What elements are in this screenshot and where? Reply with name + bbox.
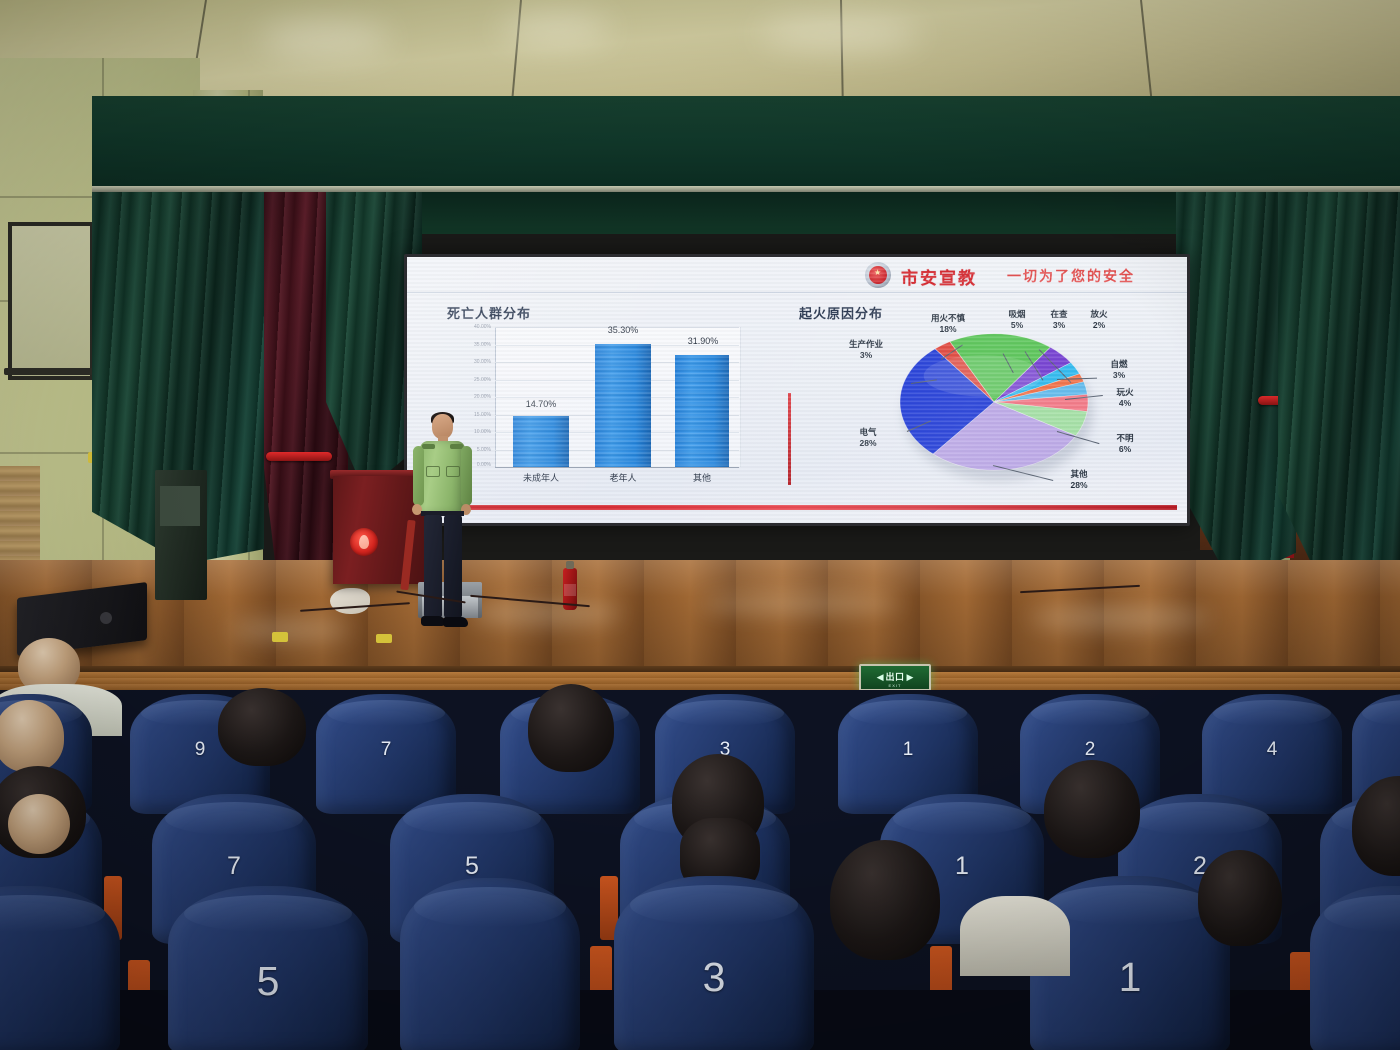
audience-head-back-1 (218, 688, 306, 766)
seat-number: 4 (1202, 739, 1342, 761)
pie-label-zaicha: 在查 3% (1039, 309, 1079, 330)
slide-bottom-rule (417, 505, 1177, 510)
bar-chart-baseline (495, 467, 739, 468)
led-screen: ★ 市安宣教 一切为了您的安全 死亡人群分布 40.00% 35.00% 30.… (407, 257, 1187, 523)
podium-emblem-icon (350, 528, 378, 556)
bar-other (675, 355, 729, 467)
pie-label-shengchanzuoye: 生产作业 3% (831, 339, 901, 360)
projection-screen (8, 222, 94, 380)
speaker-shoe-left (421, 616, 445, 626)
bar-category-minors: 未成年人 (505, 471, 577, 484)
pie-label-buming: 不明 6% (1105, 433, 1145, 454)
exit-arrow-left-icon: ◀ (877, 673, 884, 682)
pie-value-text: 5% (1011, 320, 1023, 330)
seat-front-5[interactable]: 5 (168, 886, 368, 1050)
audience-head-back-3 (0, 700, 64, 772)
pie-label-ziran: 自燃 3% (1099, 359, 1139, 380)
bar-ytick-25: 25.00% (447, 377, 491, 383)
pie-value-text: 2% (1093, 320, 1105, 330)
bar-chart: 40.00% 35.00% 30.00% 25.00% 20.00% 15.00… (447, 319, 747, 487)
exit-sign: ◀ 出口 ▶ EXIT (859, 664, 931, 691)
seat-number: 1 (838, 739, 978, 761)
bar-ytick-35: 35.00% (447, 342, 491, 348)
pie-chart: 用火不慎 18% 生产作业 3% 吸烟 5% 在查 3% 放火 2% 自燃 3% (817, 307, 1177, 497)
bar-ytick-20: 20.00% (447, 394, 491, 400)
pie-label-fanghuo: 放火 2% (1079, 309, 1119, 330)
chart-divider (788, 393, 791, 485)
pie-label-text: 其他 (1070, 469, 1087, 479)
seat-number: 7 (152, 852, 316, 881)
slide-org-title: 市安宣教 (901, 264, 977, 289)
floor-tape-center (376, 634, 392, 643)
pie-value-text: 6% (1119, 444, 1131, 454)
pie-value-text: 3% (1113, 370, 1125, 380)
bar-value-minors: 14.70% (503, 399, 579, 409)
audience-head-front-2 (1198, 850, 1282, 946)
exit-arrow-right-icon: ▶ (907, 673, 914, 682)
seat-number: 5 (168, 958, 368, 1005)
speaker-uniform-shirt (420, 441, 465, 513)
speaker-arm-left (413, 446, 424, 506)
police-badge-icon: ★ (865, 262, 891, 288)
pie-label-yonghuobushen: 用火不慎 18% (913, 313, 983, 334)
projection-screen-lip (4, 368, 96, 375)
stage-valance (92, 96, 1400, 194)
exit-sign-text: 出口 (885, 673, 904, 682)
stage-floor (0, 560, 1400, 682)
speaker-pocket-right (446, 466, 460, 477)
slide-header-rule (407, 292, 1187, 293)
speaker-leg-left (424, 515, 442, 618)
audience-head-front-1 (830, 840, 940, 960)
bar-value-elderly: 35.30% (585, 325, 661, 335)
white-sack (330, 588, 370, 614)
pie-gloss (924, 355, 1042, 396)
bar-category-other: 其他 (667, 471, 737, 484)
seat-back-7[interactable]: 7 (316, 694, 456, 814)
speaker-shoe-right (443, 617, 468, 627)
seat-number: 5 (390, 852, 554, 881)
pie-label-text: 电气 (859, 427, 876, 437)
pie-chart-svg (899, 333, 1089, 471)
pie-label-text: 自燃 (1110, 359, 1127, 369)
bar-value-other: 31.90% (665, 336, 741, 346)
slide-slogan: 一切为了您的安全 (1007, 266, 1135, 286)
seat-number: 2 (1020, 739, 1160, 761)
seat-number: 7 (316, 739, 456, 761)
pie-value-text: 3% (860, 350, 872, 360)
audience-head-mid-3 (1044, 760, 1140, 858)
pie-value-text: 3% (1053, 320, 1065, 330)
speaker-epaulette-left (422, 444, 435, 449)
audience-face-mid-1 (8, 794, 70, 854)
bar-category-elderly: 老年人 (587, 471, 659, 484)
pie-value-text: 18% (939, 324, 956, 334)
pie-value-text: 4% (1119, 398, 1131, 408)
floor-tape-left (272, 632, 288, 642)
pie-label-text: 在查 (1050, 309, 1067, 319)
seat-front-0[interactable] (0, 886, 120, 1050)
seat-front-3[interactable]: 3 (614, 876, 814, 1050)
pie-label-text: 生产作业 (849, 339, 883, 349)
pie-label-text: 吸烟 (1008, 309, 1025, 319)
pie-label-text: 不明 (1116, 433, 1133, 443)
pie-value-text: 28% (859, 438, 876, 448)
pie-label-dianqi: 电气 28% (845, 427, 891, 448)
audience-area: 9 7 3 1 2 4 7 5 (0, 690, 1400, 1050)
pie-label-wanhuo: 玩火 4% (1105, 387, 1145, 408)
speaker-pocket-left (426, 466, 440, 477)
speaker-port-icon (100, 612, 112, 624)
speaker-arm-right (461, 446, 472, 506)
audience-head-back-2 (528, 684, 614, 772)
pie-label-qita: 其他 28% (1059, 469, 1099, 490)
seat-front-gap[interactable] (400, 878, 580, 1050)
bar-ytick-30: 30.00% (447, 359, 491, 365)
curtain-green-far-right (1278, 192, 1400, 570)
curtain-tieback-left (266, 452, 332, 461)
pie-value-text: 28% (1070, 480, 1087, 490)
exit-sign-subtext: EXIT (861, 683, 929, 688)
slide-header: ★ 市安宣教 一切为了您的安全 (407, 257, 1187, 293)
pie-label-text: 用火不慎 (931, 313, 965, 323)
pie-label-xiyan: 吸烟 5% (997, 309, 1037, 330)
equipment-rack-panel (160, 486, 200, 526)
bar-elderly (595, 344, 651, 468)
audience-shoulders-front-1 (960, 896, 1070, 976)
pie-label-text: 玩火 (1116, 387, 1133, 397)
seat-number: 3 (614, 954, 814, 1001)
bar-minors (513, 416, 569, 468)
pie-label-text: 放火 (1090, 309, 1107, 319)
seat-front-edge[interactable] (1310, 886, 1400, 1050)
auditorium-scene: ★ 市安宣教 一切为了您的安全 死亡人群分布 40.00% 35.00% 30.… (0, 0, 1400, 1050)
bar-ytick-40: 40.00% (447, 324, 491, 330)
